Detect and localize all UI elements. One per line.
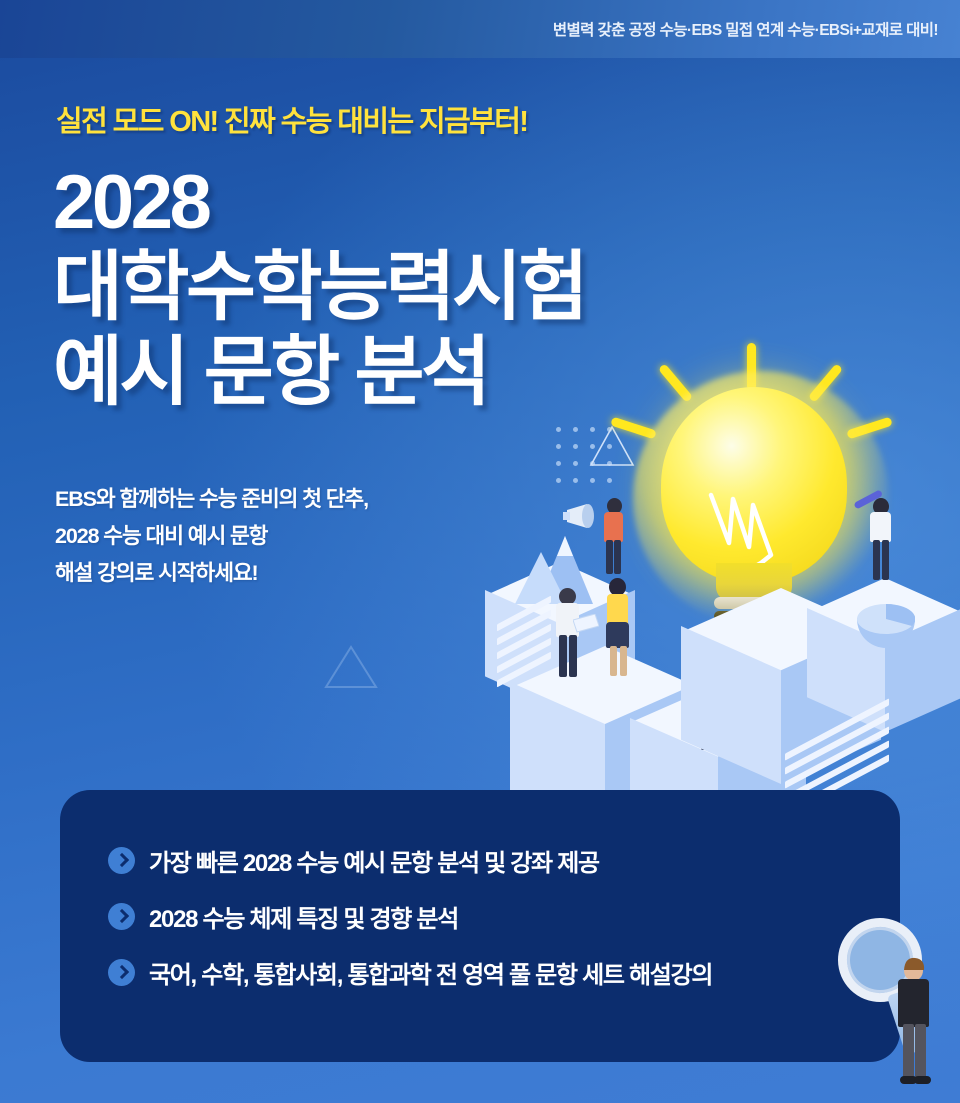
title-line-2: 대학수학능력시험 bbox=[53, 245, 585, 330]
person-with-magnifier bbox=[838, 912, 948, 1092]
person-with-telescope bbox=[861, 492, 901, 588]
person-with-megaphone bbox=[593, 498, 633, 584]
title-line-3: 예시 문항 분석 bbox=[53, 330, 585, 415]
desc-line-3: 해설 강의로 시작하세요! bbox=[55, 555, 368, 592]
list-item-label: 가장 빠른 2028 수능 예시 문항 분석 및 강좌 제공 bbox=[149, 843, 599, 878]
pie-chart-icon bbox=[857, 604, 915, 652]
header-bar: 변별력 갖춘 공정 수능·EBS 밀접 연계 수능·EBSi+교재로 대비! bbox=[0, 0, 960, 58]
list-item-label: 2028 수능 체제 특징 및 경향 분석 bbox=[149, 899, 458, 934]
desc-line-1: EBS와 함께하는 수능 준비의 첫 단추, bbox=[55, 481, 368, 518]
hair-icon bbox=[902, 957, 926, 972]
feature-list: 가장 빠른 2028 수능 예시 문항 분석 및 강좌 제공 2028 수능 체… bbox=[108, 832, 712, 1000]
title-line-1: 2028 bbox=[53, 160, 585, 245]
desc-line-2: 2028 수능 대비 예시 문항 bbox=[55, 518, 368, 555]
magnifier-person-figure bbox=[890, 960, 944, 1092]
chevron-right-circle-icon bbox=[108, 959, 135, 986]
telescope-icon bbox=[849, 486, 887, 514]
chevron-right-circle-icon bbox=[108, 903, 135, 930]
person-standing-left bbox=[551, 588, 587, 688]
feature-panel: 가장 빠른 2028 수능 예시 문항 분석 및 강좌 제공 2028 수능 체… bbox=[60, 790, 900, 1062]
page-title: 2028 대학수학능력시험 예시 문항 분석 bbox=[53, 160, 585, 415]
list-item[interactable]: 가장 빠른 2028 수능 예시 문항 분석 및 강좌 제공 bbox=[108, 832, 712, 888]
stairs-icon bbox=[497, 602, 559, 678]
hero-kicker: 실전 모드 ON! 진짜 수능 대비는 지금부터! bbox=[56, 98, 527, 140]
document-icon bbox=[573, 614, 599, 634]
person-standing-right bbox=[601, 578, 637, 684]
header-tagline: 변별력 갖춘 공정 수능·EBS 밀접 연계 수능·EBSi+교재로 대비! bbox=[553, 18, 938, 40]
poster-canvas: 변별력 갖춘 공정 수능·EBS 밀접 연계 수능·EBSi+교재로 대비! bbox=[0, 0, 960, 1103]
list-item[interactable]: 국어, 수학, 통합사회, 통합과학 전 영역 풀 문항 세트 해설강의 bbox=[108, 944, 712, 1000]
triangle-outline-icon bbox=[323, 643, 379, 691]
chevron-right-circle-icon bbox=[108, 847, 135, 874]
stairs-icon-right bbox=[785, 720, 903, 798]
hero-description: EBS와 함께하는 수능 준비의 첫 단추, 2028 수능 대비 예시 문항 … bbox=[55, 481, 368, 592]
megaphone-icon bbox=[561, 502, 603, 530]
list-item-label: 국어, 수학, 통합사회, 통합과학 전 영역 풀 문항 세트 해설강의 bbox=[149, 955, 712, 990]
isometric-scene bbox=[455, 470, 960, 800]
list-item[interactable]: 2028 수능 체제 특징 및 경향 분석 bbox=[108, 888, 712, 944]
